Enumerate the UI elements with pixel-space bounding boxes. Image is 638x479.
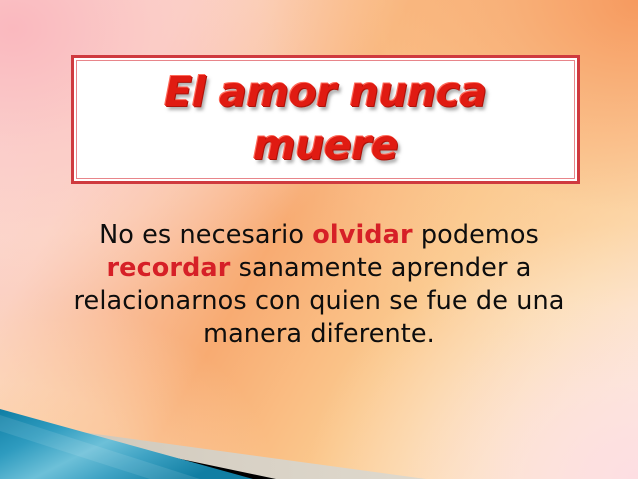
slide-body-text: No es necesario olvidar podemos recordar… [60,219,578,351]
body-part-2: podemos [413,220,539,250]
body-part-1: No es necesario [99,220,312,250]
title-frame-box: El amor nunca muere [71,55,580,184]
body-highlight-recordar: recordar [107,253,231,283]
decorative-diagonal-bands [0,379,638,479]
slide-canvas: El amor nunca muere No es necesario olvi… [0,0,638,479]
slide-title: El amor nunca muere [74,66,577,172]
body-highlight-olvidar: olvidar [312,220,412,250]
